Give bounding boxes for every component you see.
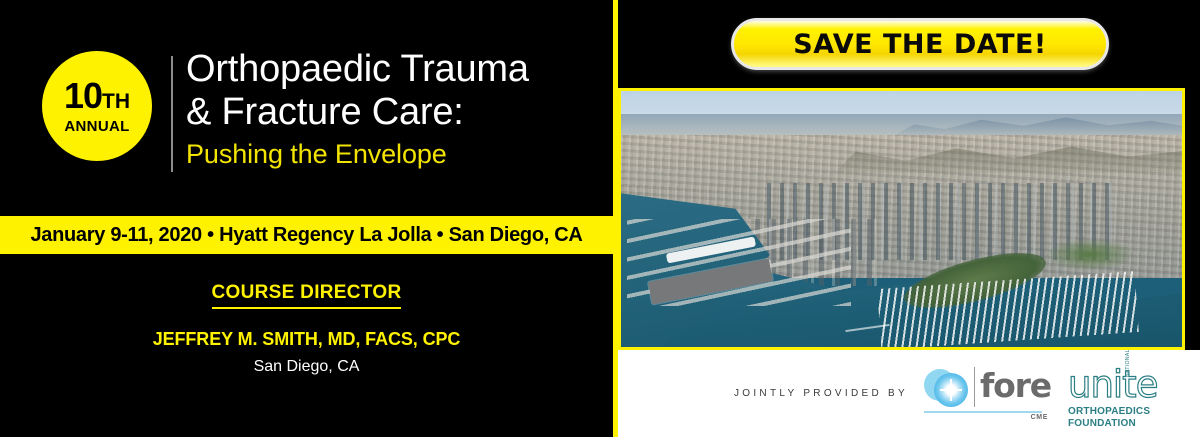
san-diego-aerial-photo bbox=[618, 88, 1185, 350]
save-the-date-button[interactable]: SAVE THE DATE! bbox=[731, 18, 1109, 70]
fore-underline-rule bbox=[924, 411, 1042, 413]
annual-badge-ordinal: TH bbox=[102, 91, 130, 112]
fore-cme-label: CME bbox=[1031, 414, 1048, 421]
course-director-name: JEFFREY M. SMITH, MD, FACS, CPC bbox=[0, 329, 613, 350]
date-location-strip: January 9-11, 2020 • Hyatt Regency La Jo… bbox=[0, 216, 613, 254]
fore-logo: fore CME bbox=[922, 365, 1050, 423]
fore-wordmark: fore bbox=[980, 367, 1051, 405]
title-block: Orthopaedic Trauma & Fracture Care: Push… bbox=[186, 48, 606, 170]
jointly-provided-by-label: JOINTLY PROVIDED BY bbox=[734, 388, 908, 399]
annual-badge-number: 10 bbox=[64, 78, 102, 114]
fore-logo-separator bbox=[974, 367, 975, 407]
annual-badge: 10 TH ANNUAL bbox=[42, 51, 152, 161]
unite-sub-line-2: FOUNDATION bbox=[1068, 418, 1186, 429]
unite-sub-line-1: ORTHOPAEDICS bbox=[1068, 406, 1186, 417]
save-the-date-label: SAVE THE DATE! bbox=[793, 29, 1047, 60]
title-divider bbox=[171, 56, 173, 172]
save-the-date-banner: 10 TH ANNUAL Orthopaedic Trauma & Fractu… bbox=[0, 0, 1200, 437]
right-panel: SAVE THE DATE! bbox=[618, 0, 1200, 437]
annual-badge-word: ANNUAL bbox=[64, 119, 129, 134]
course-director-label: COURSE DIRECTOR bbox=[212, 282, 402, 309]
unite-vertical-tag: NATIONAL bbox=[1125, 349, 1131, 377]
unite-orthopaedics-foundation-logo: unite NATIONAL ORTHOPAEDICS FOUNDATION bbox=[1068, 365, 1186, 423]
course-director-block: COURSE DIRECTOR JEFFREY M. SMITH, MD, FA… bbox=[0, 282, 613, 376]
fore-starburst-icon bbox=[944, 383, 958, 397]
photo-park-right bbox=[1047, 239, 1131, 270]
credit-band: JOINTLY PROVIDED BY fore CME unite NATIO… bbox=[618, 350, 1200, 437]
date-location-text: January 9-11, 2020 • Hyatt Regency La Jo… bbox=[30, 224, 582, 247]
course-subtitle: Pushing the Envelope bbox=[186, 139, 606, 170]
annual-badge-number-row: 10 TH bbox=[64, 78, 130, 114]
photo-inner bbox=[621, 91, 1182, 347]
course-title-line-2: & Fracture Care: bbox=[186, 91, 606, 134]
course-title-line-1: Orthopaedic Trauma bbox=[186, 48, 606, 91]
course-director-city: San Diego, CA bbox=[0, 358, 613, 376]
left-panel: 10 TH ANNUAL Orthopaedic Trauma & Fractu… bbox=[0, 0, 613, 437]
